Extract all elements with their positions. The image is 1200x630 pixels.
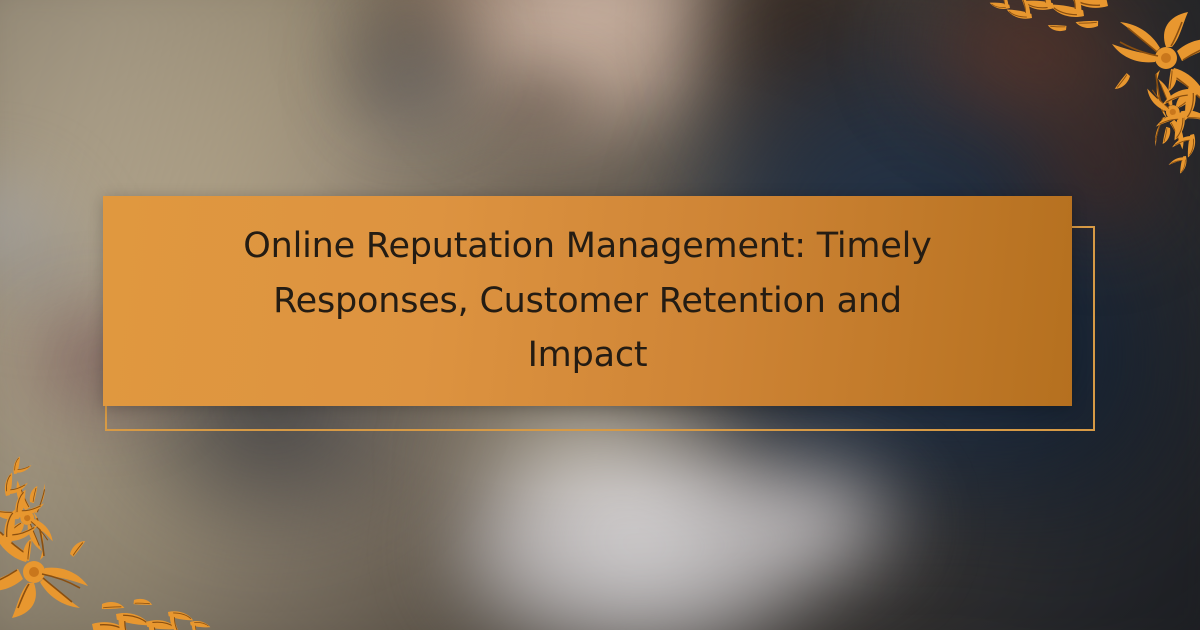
- title-plate: Online Reputation Management: Timely Res…: [103, 196, 1072, 406]
- page-title: Online Reputation Management: Timely Res…: [228, 219, 948, 384]
- featured-image-canvas: Online Reputation Management: Timely Res…: [0, 0, 1200, 630]
